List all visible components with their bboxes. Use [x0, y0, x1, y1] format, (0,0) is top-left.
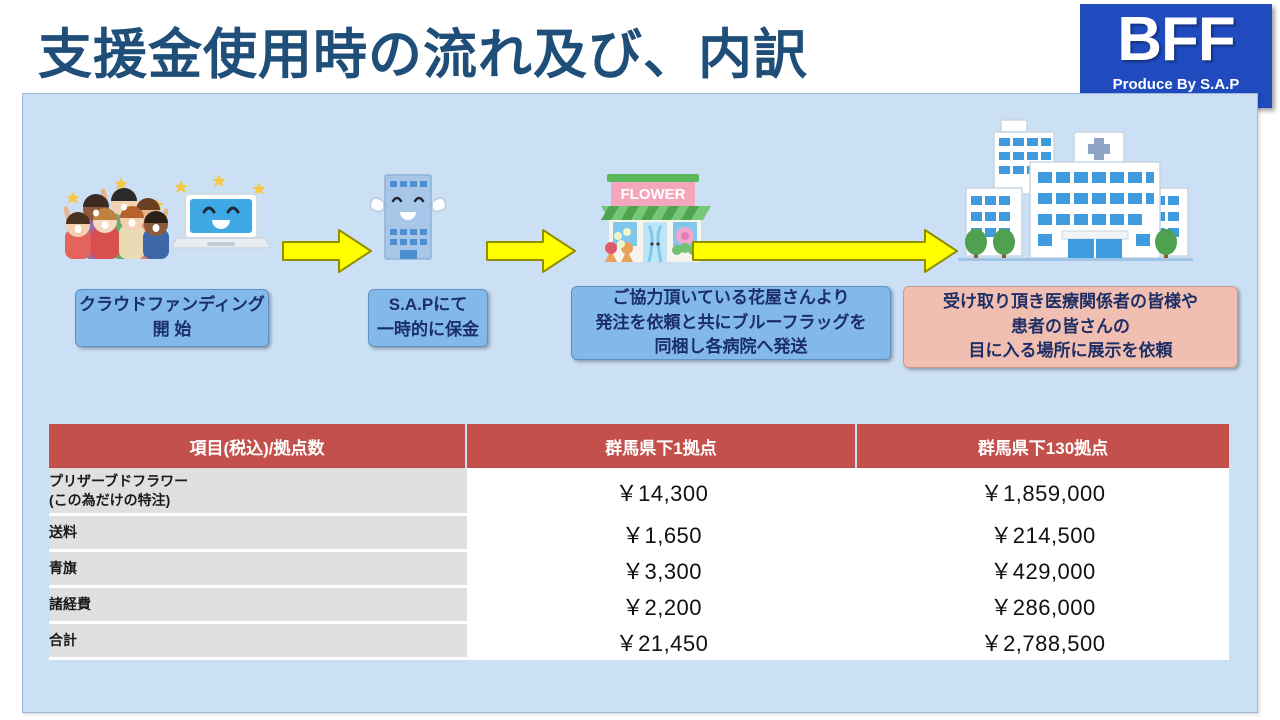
row-value-shipping-1site: ￥1,650 — [467, 516, 857, 552]
cost-table: 項目(税込)/拠点数 群馬県下1拠点 群馬県下130拠点 プリザーブドフラワー … — [49, 424, 1229, 660]
row-value-preserved-flower-1site: ￥14,300 — [467, 468, 857, 516]
table-row: 諸経費 ￥2,200 ￥286,000 — [49, 588, 1229, 624]
flow-step-3-box[interactable]: ご協力頂いている花屋さんより 発注を依頼と共にブルーフラッグを 同梱し各病院へ発… — [571, 286, 891, 360]
flow-arrow-3-icon — [691, 226, 959, 276]
laptop-smiley-illustration — [171, 172, 271, 257]
column-header-one-site: 群馬県下1拠点 — [467, 424, 857, 468]
row-value-blue-flag-1site: ￥3,300 — [467, 552, 857, 588]
row-value-preserved-flower-130sites: ￥1,859,000 — [857, 468, 1229, 516]
row-label-shipping: 送料 — [49, 516, 467, 552]
table-header: 項目(税込)/拠点数 群馬県下1拠点 群馬県下130拠点 — [49, 424, 1229, 468]
logo-main-text: BFF — [1117, 4, 1235, 76]
row-value-misc-expenses-1site: ￥2,200 — [467, 588, 857, 624]
flow-arrow-2-icon — [485, 226, 577, 276]
page-title: 支援金使用時の流れ及び、内訳 — [38, 10, 808, 89]
flow-arrow-1-icon — [281, 226, 373, 276]
crowd-illustration — [61, 169, 171, 259]
row-value-total-1site: ￥21,450 — [467, 624, 857, 660]
table-row: 合計 ￥21,450 ￥2,788,500 — [49, 624, 1229, 660]
flow-step-4-box[interactable]: 受け取り頂き医療関係者の皆様や 患者の皆さんの 目に入る場所に展示を依頼 — [903, 286, 1238, 368]
slide: 支援金使用時の流れ及び、内訳 BFF Produce By S.A.P — [0, 0, 1280, 720]
logo-sub-text: Produce By S.A.P — [1113, 76, 1240, 94]
row-value-total-130sites: ￥2,788,500 — [857, 624, 1229, 660]
row-label-total: 合計 — [49, 624, 467, 660]
flower-shop-sign-text: FLOWER — [621, 186, 686, 203]
column-header-130-sites: 群馬県下130拠点 — [857, 424, 1229, 468]
row-label-blue-flag: 青旗 — [49, 552, 467, 588]
table-body: プリザーブドフラワー (この為だけの特注) ￥14,300 ￥1,859,000… — [49, 468, 1229, 660]
process-flow: FLOWER — [23, 94, 1257, 394]
flow-step-1-box[interactable]: クラウドファンディング 開 始 — [75, 289, 269, 347]
content-panel: FLOWER — [22, 93, 1258, 713]
row-label-preserved-flower: プリザーブドフラワー (この為だけの特注) — [49, 468, 467, 516]
row-value-shipping-130sites: ￥214,500 — [857, 516, 1229, 552]
table-row: プリザーブドフラワー (この為だけの特注) ￥14,300 ￥1,859,000 — [49, 468, 1229, 516]
hospital-illustration — [958, 114, 1193, 274]
table-header-row: 項目(税込)/拠点数 群馬県下1拠点 群馬県下130拠点 — [49, 424, 1229, 468]
row-value-misc-expenses-130sites: ￥286,000 — [857, 588, 1229, 624]
row-value-blue-flag-130sites: ￥429,000 — [857, 552, 1229, 588]
row-label-misc-expenses: 諸経費 — [49, 588, 467, 624]
table-row: 送料 ￥1,650 ￥214,500 — [49, 516, 1229, 552]
table-row: 青旗 ￥3,300 ￥429,000 — [49, 552, 1229, 588]
building-character-illustration — [368, 172, 448, 262]
column-header-item: 項目(税込)/拠点数 — [49, 424, 467, 468]
flow-step-2-box[interactable]: S.A.Pにて 一時的に保金 — [368, 289, 488, 347]
